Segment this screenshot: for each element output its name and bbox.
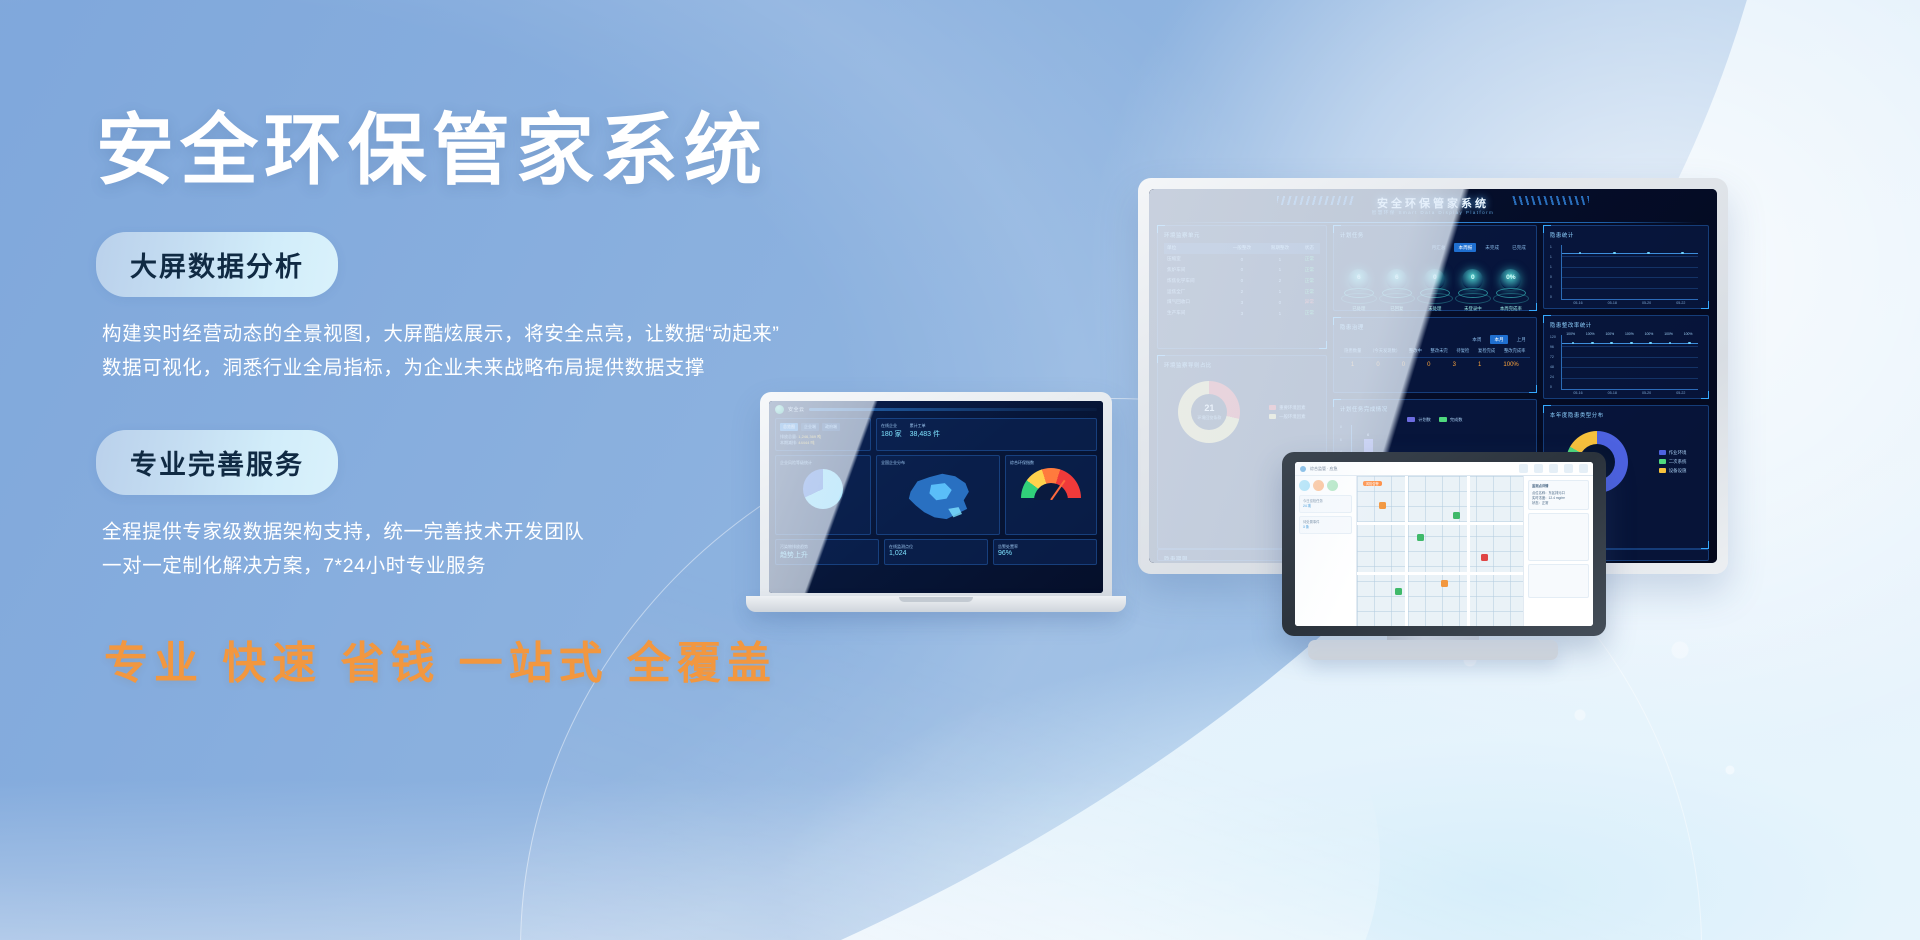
- feature-pill-1: 大屏数据分析: [96, 232, 338, 297]
- gridline: [1562, 367, 1698, 368]
- gridline: [1562, 378, 1698, 379]
- task-item: 0未登录中: [1454, 269, 1492, 312]
- laptop-china-map: [881, 466, 995, 530]
- map-road: [1467, 476, 1470, 626]
- table-row: 生产车间31正常: [1164, 308, 1320, 319]
- legend-swatch: [1269, 405, 1276, 410]
- laptop-brand: 安全云: [788, 406, 805, 413]
- cell-normal: 3: [1223, 308, 1261, 319]
- cell-unit: 煤气回收口: [1164, 297, 1223, 308]
- popup-line: 状态：正常: [1532, 501, 1585, 506]
- laptop-stat: 在线企业180 家: [881, 423, 902, 446]
- task-ring-outer: [1455, 293, 1491, 304]
- tab-本月[interactable]: 本月: [1490, 335, 1507, 344]
- tab-已完成[interactable]: 已完成: [1508, 243, 1530, 252]
- card-value: 3 条: [1303, 525, 1348, 530]
- cell-normal: 0: [1223, 275, 1261, 286]
- cell-normal: 3: [1223, 297, 1261, 308]
- table-row: 炼焦化学车间02正常: [1164, 275, 1320, 286]
- donut-center: 21 环境回览条款: [1191, 394, 1227, 430]
- header-deco-left-icon: [1277, 196, 1355, 205]
- cell-normal: 0: [1223, 254, 1261, 265]
- popup-title: 监测点详情: [1532, 484, 1585, 489]
- table-row: 压缩室01正常: [1164, 254, 1320, 265]
- laptop-tab-政府端[interactable]: 政府端: [822, 423, 840, 431]
- tab-月汇总[interactable]: 月汇总: [1428, 243, 1450, 252]
- tablet-right-chart: [1528, 513, 1589, 561]
- search-icon[interactable]: [1564, 464, 1573, 473]
- cell-urgent: 2: [1261, 275, 1299, 286]
- laptop-trackpad-notch: [899, 597, 973, 602]
- task-ring-outer: [1341, 293, 1377, 304]
- cell-normal: 2: [1223, 286, 1261, 297]
- axis-label: 05-16: [1573, 391, 1582, 395]
- line-card-title: 隐患统计: [1550, 231, 1702, 239]
- hidden-value-cell: 0: [1427, 362, 1430, 368]
- feature-pill-2: 专业完善服务: [96, 430, 338, 495]
- task-value: 6: [1386, 274, 1407, 281]
- cell-status: 正常: [1299, 308, 1320, 319]
- task-value: 0: [1462, 274, 1483, 281]
- task-orb-icon: 0: [1424, 269, 1445, 290]
- tablet-right-panel: 监测点详情 点位名称：东区排污口实时浓度：12.4 mg/m³状态：正常: [1523, 476, 1593, 626]
- laptop-overview-card: 总览图企业端政府端 排放总量: 1,246,369 吨本期减排: 44444 吨: [775, 418, 871, 451]
- tab-未完成[interactable]: 未完成: [1481, 243, 1503, 252]
- map-marker[interactable]: [1379, 502, 1386, 509]
- units-table-header: 单位 一般整改 限期整改 状态: [1164, 243, 1320, 254]
- cell-urgent: 1: [1261, 265, 1299, 276]
- units-col-normal: 一般整改: [1223, 243, 1261, 254]
- axis-label: 05-18: [1608, 301, 1617, 305]
- hidden-tabs[interactable]: 本周本月上月: [1340, 335, 1530, 344]
- data-point: [1630, 342, 1633, 345]
- axis-label: 05-20: [1642, 301, 1651, 305]
- line-plot: [1561, 245, 1698, 300]
- map-road: [1357, 572, 1523, 575]
- map-marker[interactable]: [1417, 534, 1424, 541]
- tablet-app-title: 综合监管 · 应急: [1310, 466, 1338, 472]
- legend-swatch: [1659, 468, 1666, 473]
- laptop-bottom-card: 污染物排放趋势趋势上升: [775, 539, 879, 565]
- map-road: [1357, 522, 1523, 525]
- map-marker[interactable]: [1481, 554, 1488, 561]
- dashboard-subtitle: 智慧环保 Smart Data Display Platform: [1372, 210, 1494, 216]
- laptop-stats-card: 在线企业180 家累计工单38,483 件: [876, 418, 1097, 451]
- hidden-value-cell: 3: [1453, 362, 1456, 368]
- rate-card-title: 隐患整改率统计: [1550, 321, 1702, 329]
- tasks-card: 计划任务 月汇总本周报未完成已完成 6已处理6已回复0未处理0未登录中0%本周完…: [1333, 225, 1537, 311]
- map-road: [1405, 476, 1408, 626]
- legend-item: 一般环境因素: [1269, 414, 1305, 420]
- data-point: [1681, 252, 1684, 255]
- avatar: [1299, 480, 1310, 491]
- axis-tick: 72: [1550, 355, 1556, 359]
- stat-value: 180 家: [881, 429, 902, 439]
- tablet-popup: 监测点详情 点位名称：东区排污口实时浓度：12.4 mg/m³状态：正常: [1528, 480, 1589, 510]
- axis-tick: 120: [1550, 335, 1556, 339]
- cell-unit: 压缩室: [1164, 254, 1223, 265]
- environment-donut-chart: 21 环境回览条款: [1178, 381, 1240, 443]
- stat-value: 38,483 件: [910, 429, 940, 439]
- axis-label: 05-22: [1676, 391, 1685, 395]
- hidden-header-cell: 整改未完: [1431, 348, 1448, 354]
- feature-desc-1-line-1: 构建实时经营动态的全景视图，大屏酷炫展示，将安全点亮，让数据“动起来”: [102, 317, 916, 351]
- units-col-urgent: 限期整改: [1261, 243, 1299, 254]
- hidden-value-cell: 0: [1376, 362, 1379, 368]
- tablet-toolbar[interactable]: [1342, 464, 1588, 473]
- tablet-avatars: [1299, 480, 1352, 491]
- laptop-metric: 本期减排: 44444 吨: [780, 440, 866, 446]
- cell-urgent: 0: [1261, 297, 1299, 308]
- feature-desc-1: 构建实时经营动态的全景视图，大屏酷炫展示，将安全点亮，让数据“动起来” 数据可视…: [102, 317, 916, 386]
- gridline: [1562, 389, 1698, 390]
- legend-swatch: [1407, 417, 1415, 422]
- task-value: 0: [1424, 274, 1445, 281]
- legend-item: 作业环境: [1659, 450, 1687, 456]
- laptop-logo-icon: [775, 405, 784, 414]
- laptop-tab-总览图[interactable]: 总览图: [780, 423, 798, 431]
- laptop-bottom-card: 告警处置率96%: [993, 539, 1097, 565]
- tablet-left-cards: 今日巡检任务24 项待处置事件3 条: [1299, 495, 1352, 534]
- task-ring-outer: [1379, 293, 1415, 304]
- task-item: 0未处理: [1416, 269, 1454, 312]
- laptop-map-card: 全国企业分布: [876, 455, 1000, 535]
- legend-item: 重要环境因素: [1269, 405, 1305, 411]
- task-item: 6已处理: [1340, 269, 1378, 312]
- donut-wrap: 21 环境回览条款 重要环境因素一般环境因素: [1164, 373, 1320, 451]
- legend-swatch: [1659, 450, 1666, 455]
- legend-swatch: [1659, 459, 1666, 464]
- tablet-map[interactable]: 风险告警: [1357, 476, 1523, 626]
- legend-item: 设备设施: [1659, 468, 1687, 474]
- cell-status: 正常: [1299, 254, 1320, 265]
- legend-swatch: [1439, 417, 1447, 422]
- task-label: 未登录中: [1454, 306, 1492, 312]
- feature-desc-1-line-2: 数据可视化，洞悉行业全局指标，为企业未来战略布局提供数据支撑: [102, 351, 916, 385]
- data-point: [1647, 252, 1650, 255]
- axis-tick: 0: [1550, 385, 1556, 389]
- laptop-gauge-title: 综合环保指数: [1010, 460, 1092, 466]
- rate-x-axis: 05-1605-1805-2005-22: [1561, 391, 1698, 395]
- hidden-value-cell: 100%: [1503, 362, 1518, 368]
- laptop-topbar: 安全云: [769, 401, 1103, 418]
- laptop-pie-chart: [803, 469, 843, 509]
- hidden-danger-card: 隐患治理 本周本月上月 隐患数量（今天发现数）整改中整改未完待复检复检完成整改完…: [1333, 317, 1537, 393]
- axis-tick: 0: [1550, 295, 1552, 299]
- tab-上月[interactable]: 上月: [1513, 335, 1530, 344]
- rate-chart: 100%100%100%100%100%100%100% 12096724824…: [1550, 333, 1702, 395]
- line-y-axis: 111000: [1550, 245, 1552, 299]
- page-title: 安全环保管家系统: [96, 110, 916, 192]
- dashboard-title: 安全环保管家系统: [1377, 195, 1489, 211]
- laptop-pie-title: 企业风险等级统计: [780, 460, 866, 466]
- tab-本周报[interactable]: 本周报: [1454, 243, 1476, 252]
- map-marker[interactable]: [1453, 512, 1460, 519]
- bar-value: 6: [1364, 432, 1373, 437]
- legend-swatch: [1269, 414, 1276, 419]
- axis-tick: 96: [1550, 345, 1556, 349]
- alert-badge-label: 风险告警: [1363, 481, 1382, 486]
- hidden-value-cell: 0: [1402, 362, 1405, 368]
- axis-label: 05-20: [1642, 391, 1651, 395]
- units-table: 单位 一般整改 限期整改 状态 压缩室01正常焦炉车间01正常炼焦化学车间02正…: [1164, 243, 1320, 318]
- data-point: [1591, 342, 1594, 345]
- metric-value: 1,246,369 吨: [798, 434, 821, 439]
- tablet-body-row: 今日巡检任务24 项待处置事件3 条: [1295, 476, 1593, 626]
- task-orb-icon: 6: [1386, 269, 1407, 290]
- card-value: 1,024: [889, 550, 983, 557]
- task-value: 0%: [1500, 274, 1521, 281]
- tasks-card-title: 计划任务: [1340, 231, 1530, 239]
- hidden-header-cell: 待复检: [1456, 348, 1469, 354]
- laptop-bottom-cards: 污染物排放趋势趋势上升在线监测点位1,024告警处置率96%: [769, 539, 1103, 565]
- map-grid: [1357, 476, 1523, 626]
- units-card: 环境监察单元 单位 一般整改 限期整改 状态 压缩室01正常焦炉车间01正常炼焦…: [1157, 225, 1327, 349]
- laptop-stat: 累计工单38,483 件: [910, 423, 940, 446]
- tablet-left-card: 待处置事件3 条: [1299, 516, 1352, 534]
- taskbar-card-title: 计划任务完成情况: [1340, 405, 1530, 413]
- donut-center-label: 环境回览条款: [1197, 415, 1221, 421]
- axis-tick: 8: [1340, 425, 1342, 429]
- laptop-stats: 在线企业180 家累计工单38,483 件: [881, 423, 940, 446]
- hidden-header-row: 隐患数量（今天发现数）整改中整改未完待复检复检完成整改完成率: [1340, 348, 1530, 358]
- laptop-lid: 安全云 总览图企业端政府端 排放总量: 1,246,369 吨本期减排: 444…: [760, 392, 1112, 602]
- hidden-card-title: 隐患治理: [1340, 323, 1530, 331]
- laptop-screen: 安全云 总览图企业端政府端 排放总量: 1,246,369 吨本期减排: 444…: [769, 401, 1103, 593]
- units-table-body: 压缩室01正常焦炉车间01正常炼焦化学车间02正常运焦全厂21正常煤气回收口30…: [1164, 254, 1320, 319]
- gridline: [1562, 357, 1698, 358]
- avatar: [1327, 480, 1338, 491]
- series-line: [1562, 253, 1698, 254]
- axis-label: 05-18: [1608, 391, 1617, 395]
- tablet-mockup: 综合监管 · 应急 今日巡检任务24 项待处置事件3 条: [1282, 452, 1606, 636]
- background-bokeh: [1430, 620, 1770, 900]
- laptop-metrics: 排放总量: 1,246,369 吨本期减排: 44444 吨: [780, 434, 866, 446]
- card-value: 24 项: [1303, 504, 1348, 509]
- task-label: 未处理: [1416, 306, 1454, 312]
- tasks-tabs[interactable]: 月汇总本周报未完成已完成: [1340, 243, 1530, 252]
- tablet-right-list: [1528, 564, 1589, 598]
- tablet-screen: 综合监管 · 应急 今日巡检任务24 项待处置事件3 条: [1295, 462, 1593, 626]
- laptop-row-2: 企业风险等级统计 全国企业分布: [769, 455, 1103, 535]
- hidden-value-cell: 1: [1478, 362, 1481, 368]
- map-marker[interactable]: [1395, 588, 1402, 595]
- cell-unit: 生产车间: [1164, 308, 1223, 319]
- hidden-header-cell: （今天发现数）: [1370, 348, 1400, 354]
- cell-status: 正常: [1299, 275, 1320, 286]
- tablet-dashboard: 综合监管 · 应急 今日巡检任务24 项待处置事件3 条: [1295, 462, 1593, 626]
- tagline: 专业 快速 省钱 一站式 全覆盖: [104, 627, 916, 691]
- tablet-header: 综合监管 · 应急: [1295, 462, 1593, 476]
- danger-line-card: 隐患统计 111000 05-1605-1805-2005-22: [1543, 225, 1709, 309]
- task-item: 6已回复: [1378, 269, 1416, 312]
- laptop-dashboard: 安全云 总览图企业端政府端 排放总量: 1,246,369 吨本期减排: 444…: [769, 401, 1103, 593]
- hidden-value-cell: 1: [1351, 362, 1354, 368]
- task-label: 已处理: [1340, 306, 1378, 312]
- rate-line-card: 隐患整改率统计 100%100%100%100%100%100%100% 120…: [1543, 315, 1709, 399]
- alert-badge: 风险告警: [1363, 481, 1382, 486]
- axis-tick: 1: [1550, 245, 1552, 249]
- donut-card-title: 环境监察导则占比: [1164, 361, 1320, 369]
- dashboard-header: 安全环保管家系统 智慧环保 Smart Data Display Platfor…: [1149, 189, 1717, 225]
- hidden-header-cell: 整改中: [1409, 348, 1422, 354]
- laptop-mockup: 安全云 总览图企业端政府端 排放总量: 1,246,369 吨本期减排: 444…: [760, 392, 1112, 624]
- cell-status: 异常: [1299, 297, 1320, 308]
- avatar: [1313, 480, 1324, 491]
- laptop-bottom-card: 在线监测点位1,024: [884, 539, 988, 565]
- donut-center-value: 21: [1204, 404, 1214, 413]
- rate-y-axis: 120967248240: [1550, 335, 1556, 389]
- metric-value: 44444 吨: [798, 440, 814, 445]
- laptop-gauge-card: 综合环保指数: [1005, 455, 1097, 535]
- hidden-value-row: 100031100%: [1340, 358, 1530, 368]
- units-card-title: 环境监察单元: [1164, 231, 1320, 239]
- china-map-icon: [881, 466, 995, 526]
- laptop-row-1: 总览图企业端政府端 排放总量: 1,246,369 吨本期减排: 44444 吨…: [769, 418, 1103, 451]
- line-x-axis: 05-1605-1805-2005-22: [1561, 301, 1698, 305]
- cell-unit: 运焦全厂: [1164, 286, 1223, 297]
- laptop-gauge-chart: [1021, 468, 1081, 500]
- tablet-left-panel: 今日巡检任务24 项待处置事件3 条: [1295, 476, 1357, 626]
- monitor-stand-base: [1308, 640, 1558, 660]
- route-icon[interactable]: [1549, 464, 1558, 473]
- units-col-unit: 单位: [1164, 243, 1223, 254]
- gridline: [1562, 277, 1698, 278]
- gridline: [1562, 299, 1698, 300]
- header-divider: [1167, 222, 1699, 223]
- menu-icon[interactable]: [1579, 464, 1588, 473]
- axis-tick: 1: [1550, 255, 1552, 259]
- promo-banner: 安全环保管家系统 大屏数据分析 构建实时经营动态的全景视图，大屏酷炫展示，将安全…: [0, 0, 1920, 940]
- task-orb-icon: 6: [1348, 269, 1369, 290]
- laptop-tabs[interactable]: 总览图企业端政府端: [780, 423, 866, 431]
- tab-本周[interactable]: 本周: [1468, 335, 1485, 344]
- axis-tick: 1: [1550, 265, 1552, 269]
- hidden-header-cell: 整改完成率: [1504, 348, 1525, 354]
- gridline: [1562, 256, 1698, 257]
- layers-icon[interactable]: [1519, 464, 1528, 473]
- tablet-app-icon: [1300, 466, 1306, 472]
- gridline: [1562, 346, 1698, 347]
- gridline: [1562, 267, 1698, 268]
- card-value: 趋势上升: [780, 550, 874, 560]
- axis-tick: 24: [1550, 375, 1556, 379]
- popup-lines: 点位名称：东区排污口实时浓度：12.4 mg/m³状态：正常: [1532, 491, 1585, 506]
- tablet-left-card: 今日巡检任务24 项: [1299, 495, 1352, 513]
- map-marker[interactable]: [1441, 580, 1448, 587]
- task-ring-outer: [1417, 293, 1453, 304]
- cell-urgent: 1: [1261, 308, 1299, 319]
- task-label: 已回复: [1378, 306, 1416, 312]
- table-row: 运焦全厂21正常: [1164, 286, 1320, 297]
- line-chart: 111000 05-1605-1805-2005-22: [1550, 243, 1702, 305]
- axis-tick: 48: [1550, 365, 1556, 369]
- pin-icon[interactable]: [1534, 464, 1543, 473]
- task-orb-icon: 0%: [1500, 269, 1521, 290]
- tasks-items: 6已处理6已回复0未处理0未登录中0%本周完成率: [1340, 256, 1530, 312]
- cell-normal: 0: [1223, 265, 1261, 276]
- axis-tick: 6: [1340, 438, 1342, 442]
- laptop-topbar-deco: [809, 408, 1097, 411]
- rate-plot: [1561, 335, 1698, 390]
- task-ring-outer: [1493, 293, 1529, 304]
- hidden-header-cell: 复检完成: [1478, 348, 1495, 354]
- header-deco-right-icon: [1511, 196, 1589, 205]
- task-item: 0%本周完成率: [1492, 269, 1530, 312]
- cell-status: 正常: [1299, 286, 1320, 297]
- task-value: 6: [1348, 274, 1369, 281]
- tablet-body: 综合监管 · 应急 今日巡检任务24 项待处置事件3 条: [1282, 452, 1606, 636]
- units-col-status: 状态: [1299, 243, 1320, 254]
- donut-legend: 重要环境因素一般环境因素: [1269, 405, 1305, 420]
- data-point: [1613, 252, 1616, 255]
- type-donut-legend: 作业环境二次系统设备设施: [1659, 450, 1687, 474]
- legend-item: 二次系统: [1659, 459, 1687, 465]
- axis-tick: 0: [1550, 275, 1552, 279]
- laptop-tab-企业端[interactable]: 企业端: [801, 423, 819, 431]
- axis-tick: 0: [1550, 285, 1552, 289]
- cell-status: 正常: [1299, 265, 1320, 276]
- table-row: 焦炉车间01正常: [1164, 265, 1320, 276]
- task-orb-icon: 0: [1462, 269, 1483, 290]
- cell-unit: 炼焦化学车间: [1164, 275, 1223, 286]
- table-row: 煤气回收口30异常: [1164, 297, 1320, 308]
- task-label: 本周完成率: [1492, 306, 1530, 312]
- cell-urgent: 1: [1261, 286, 1299, 297]
- laptop-pie-card: 企业风险等级统计: [775, 455, 871, 535]
- cell-unit: 焦炉车间: [1164, 265, 1223, 276]
- type-donut-title: 本年度隐患类型分布: [1550, 411, 1702, 419]
- cell-urgent: 1: [1261, 254, 1299, 265]
- axis-label: 05-16: [1573, 301, 1582, 305]
- gridline: [1562, 288, 1698, 289]
- card-value: 96%: [998, 550, 1092, 557]
- hidden-header-cell: 隐患数量: [1344, 348, 1361, 354]
- axis-label: 05-22: [1676, 301, 1685, 305]
